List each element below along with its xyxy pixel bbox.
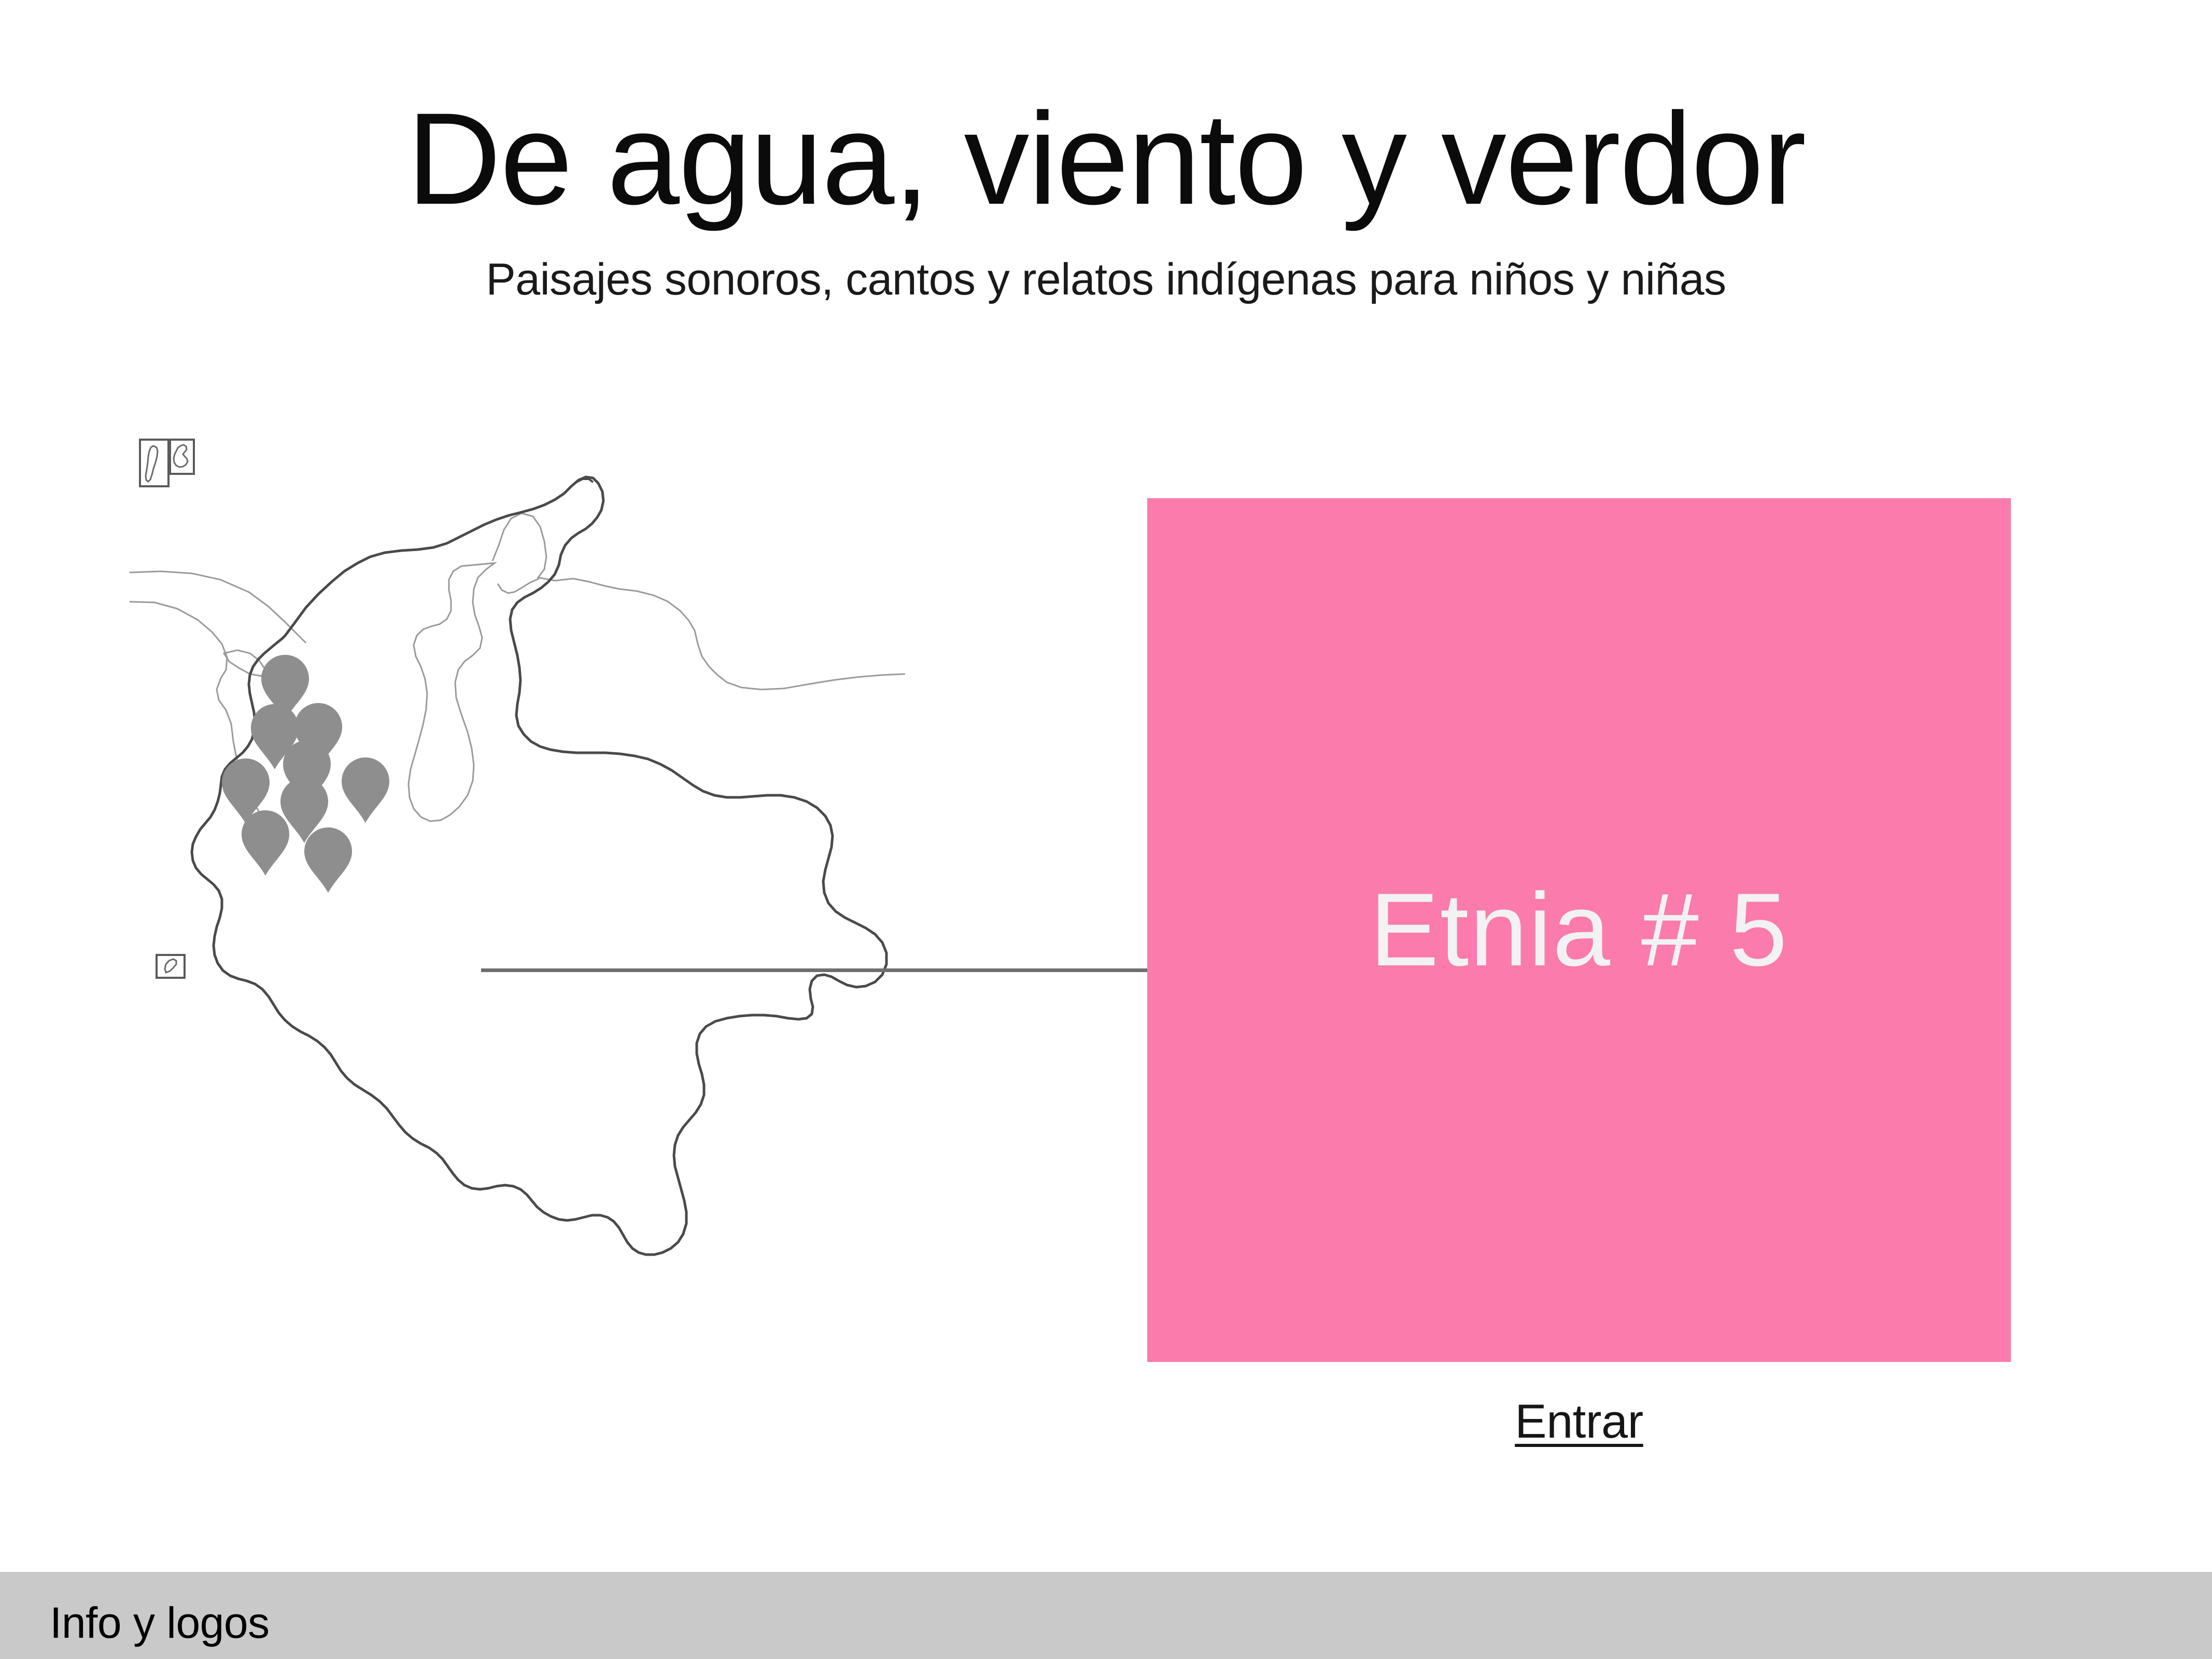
page-subtitle: Paisajes sonoros, cantos y relatos indíg… xyxy=(0,255,2212,304)
san-andres-island-shape xyxy=(146,446,158,482)
app-root: De agua, viento y verdor Paisajes sonoro… xyxy=(0,0,2212,1659)
page-title: De agua, viento y verdor xyxy=(0,92,2212,226)
panama-canal-detail xyxy=(224,650,265,676)
footer-label: Info y logos xyxy=(50,1598,270,1648)
footer-bar: Info y logos xyxy=(0,1572,2212,1659)
map-pin-8 xyxy=(242,810,289,876)
island-insets xyxy=(140,440,194,978)
colombia-outline xyxy=(192,477,886,1255)
pin-to-panel-connector-line xyxy=(481,968,1149,972)
venezuela-coast-detail xyxy=(498,579,539,593)
page-header: De agua, viento y verdor Paisajes sonoro… xyxy=(0,0,2212,321)
map-pin-9 xyxy=(304,827,352,893)
map-pin-5-selected xyxy=(342,757,389,823)
map-pins xyxy=(222,655,389,893)
malpelo-inset-box xyxy=(157,955,185,978)
etnia-preview-panel[interactable]: Etnia # 5 xyxy=(1147,498,2011,1362)
venezuela-outline xyxy=(492,513,905,690)
etnia-panel-label: Etnia # 5 xyxy=(1370,878,1788,982)
colombia-coast-detail xyxy=(571,479,593,486)
guajira-detail xyxy=(571,479,593,486)
entrar-link[interactable]: Entrar xyxy=(1515,1395,1643,1449)
providencia-island-shape xyxy=(174,445,188,467)
colombia-border-path xyxy=(192,477,886,1255)
maracaibo-lake-outline xyxy=(408,563,495,821)
malpelo-island-shape xyxy=(165,959,176,973)
entrar-action-area: Entrar xyxy=(1147,1395,2011,1449)
